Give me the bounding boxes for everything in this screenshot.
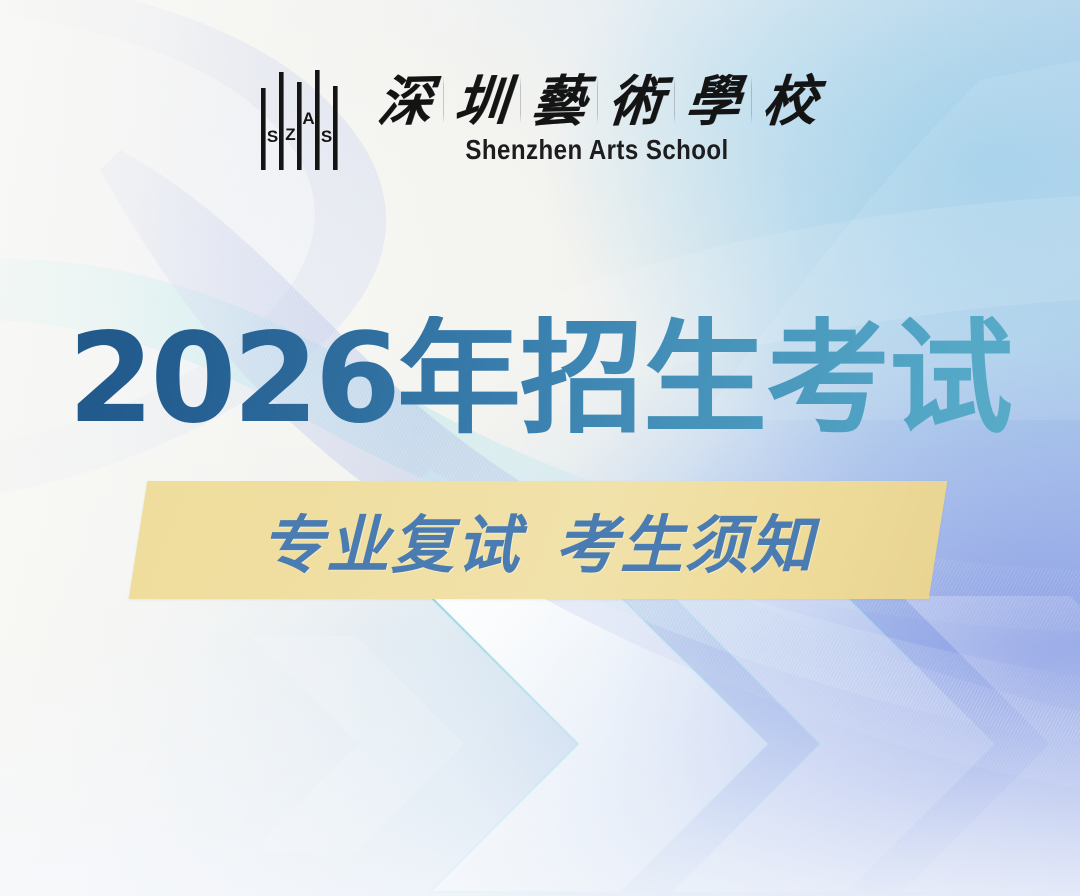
subtitle-part-1: 专业复试 — [261, 495, 521, 586]
subtitle-part-2: 考生须知 — [555, 495, 815, 586]
cn-name-separator — [520, 76, 521, 124]
subtitle-banner-text: 专业复试 考生须知 — [138, 481, 938, 599]
poster-main-title: 2026年招生考试 — [0, 316, 1080, 442]
school-name-cn-char-5: 校 — [751, 73, 828, 128]
school-name-cn-char-0: 深 — [366, 73, 443, 128]
cn-name-separator — [751, 76, 752, 124]
school-name-cn-char-2: 藝 — [520, 73, 597, 128]
szas-bars-logo-icon: S Z A S — [255, 68, 345, 180]
logo-letter-z: Z — [285, 125, 295, 144]
title-rest: 年招生考试 — [397, 310, 1012, 448]
school-name-cn: 深 圳 藝 術 學 校 — [369, 64, 826, 128]
title-year: 2026 — [68, 307, 397, 451]
logo-letter-s1: S — [266, 127, 277, 146]
logo-letter-a: A — [302, 109, 314, 128]
school-logo: S Z A S 深 圳 藝 術 學 校 Shenzhen A — [0, 64, 1080, 180]
logo-letter-s2: S — [320, 127, 331, 146]
school-name-en: Shenzhen Arts School — [465, 134, 728, 166]
subtitle-banner: 专业复试 考生须知 — [138, 481, 938, 599]
school-name-cn-char-3: 術 — [597, 73, 674, 128]
poster-canvas: S Z A S 深 圳 藝 術 學 校 Shenzhen A — [0, 0, 1080, 896]
school-wordmark: 深 圳 藝 術 學 校 Shenzhen Arts School — [369, 64, 826, 166]
cn-name-separator — [443, 76, 444, 124]
cn-name-separator — [597, 76, 598, 124]
school-name-cn-char-4: 學 — [674, 73, 751, 128]
cn-name-separator — [674, 76, 675, 124]
school-name-cn-char-1: 圳 — [443, 73, 520, 128]
